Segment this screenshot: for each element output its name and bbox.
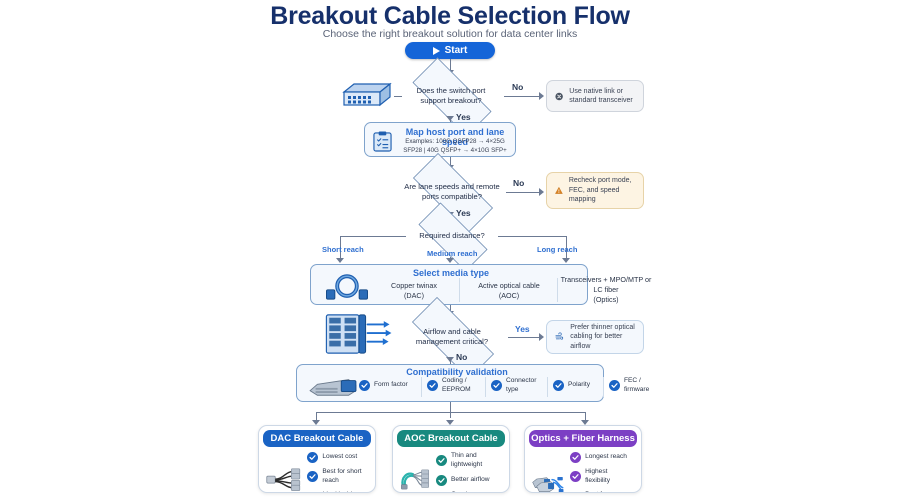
check-icon [307, 471, 318, 482]
check-icon [436, 475, 447, 486]
dac-breakout-cable-icon [266, 463, 301, 493]
edge-label-no-4: No [456, 352, 467, 362]
bullet-item: Ideal inside one rack [307, 491, 368, 493]
bullet-label: Highest flexibility [585, 468, 634, 486]
connector-arrow [539, 92, 544, 100]
validation-item-label: Polarity [568, 381, 590, 390]
aoc-breakout-cable-icon [400, 463, 430, 493]
page-subtitle: Choose the right breakout solution for d… [0, 28, 900, 40]
optics-fiber-harness-icon [532, 468, 564, 493]
check-icon [307, 452, 318, 463]
bullet-item: Highest flexibility [570, 468, 634, 486]
connector [316, 412, 585, 413]
decision-airflow-critical[interactable]: Airflow and cable management critical? [396, 313, 508, 361]
bullet-item: Best for short reach [307, 468, 368, 486]
note-prefer-thinner-text: Prefer thinner optical cabling for bette… [570, 323, 635, 351]
branch-label-medium-reach: Medium reach [427, 249, 477, 258]
bullet-item: Lowest cost [307, 452, 368, 463]
divider [557, 278, 558, 302]
result-card-aoc-bullets: Thin and lightweight Better airflow Good… [436, 452, 502, 493]
note-use-native-link: Use native link or standard transceiver [546, 80, 644, 112]
result-card-dac-body: Lowest cost Best for short reach Ideal i… [259, 447, 375, 493]
check-icon [553, 380, 564, 391]
note-prefer-thinner-optical: Prefer thinner optical cabling for bette… [546, 320, 644, 354]
clipboard-checklist-icon [373, 131, 392, 152]
validation-item-label: Coding / EEPROM [442, 377, 483, 395]
divider [603, 377, 604, 397]
connector-arrow [539, 188, 544, 196]
result-card-aoc-body: Thin and lightweight Better airflow Good… [393, 447, 509, 493]
band-media-title: Select media type [371, 268, 531, 278]
sfp-transceiver-icon [307, 376, 359, 398]
step-map-host-port[interactable]: Map host port and lane speed Examples: 1… [364, 122, 516, 157]
connector [498, 236, 566, 237]
band-select-media-type[interactable]: Select media type Copper twinax (DAC) Ac… [310, 264, 588, 305]
bullet-item: Better airflow [436, 475, 502, 486]
result-card-optics[interactable]: Optics + Fiber Harness Longest reach Hig… [524, 425, 642, 493]
decision-lane-speed-label: Are lane speeds and remote ports compati… [398, 182, 506, 203]
bullet-item: Thin and lightweight [436, 452, 502, 470]
play-icon [433, 47, 440, 55]
check-icon [609, 380, 620, 391]
media-option-dac-name: Copper twinax [391, 281, 437, 290]
decision-required-distance-label: Required distance? [413, 231, 490, 241]
validation-item: Coding / EEPROM [427, 377, 483, 395]
connector-arrow [446, 357, 454, 362]
bullet-label: Longest reach [585, 453, 627, 462]
media-option-optics: Transceivers + MPO/MTP or LC fiber (Opti… [560, 275, 652, 305]
result-card-dac-title: DAC Breakout Cable [263, 430, 371, 447]
connector-arrow [539, 333, 544, 341]
band-compatibility-validation[interactable]: Compatibility validation Form factor Cod… [296, 364, 604, 402]
step-map-examples: Examples: 100G QSFP28 → 4×25G SFP28 | 40… [395, 138, 515, 156]
divider [421, 377, 422, 397]
bullet-label: Good across adjacent racks [451, 491, 502, 493]
check-icon [427, 380, 438, 391]
connector-arrow [336, 258, 344, 263]
bullet-label: Thin and lightweight [451, 452, 502, 470]
media-option-aoc: Active optical cable (AOC) [463, 281, 555, 301]
note-recheck-port-mode: Recheck port mode, FEC, and speed mappin… [546, 172, 644, 209]
edge-label-no-2: No [513, 178, 524, 188]
check-icon [570, 471, 581, 482]
warning-triangle-icon [555, 182, 563, 199]
result-card-aoc-title: AOC Breakout Cable [397, 430, 505, 447]
check-icon [436, 455, 447, 466]
x-circle-icon [555, 89, 563, 104]
airflow-wind-icon [555, 328, 564, 346]
media-option-optics-sub: (Optics) [593, 295, 618, 304]
start-button-label: Start [445, 45, 468, 56]
branch-label-long-reach: Long reach [537, 245, 577, 254]
result-card-aoc[interactable]: AOC Breakout Cable Thin and lightweight … [392, 425, 510, 493]
bullet-label: Ideal inside one rack [322, 491, 368, 493]
connector [504, 96, 540, 97]
validation-item-label: FEC / firmware [624, 377, 661, 395]
start-button[interactable]: Start [405, 42, 495, 59]
media-option-aoc-sub: (AOC) [499, 291, 519, 300]
edge-label-yes-1: Yes [456, 112, 471, 122]
divider [459, 278, 460, 302]
validation-item-label: Form factor [374, 381, 408, 390]
bullet-label: Best for short reach [322, 468, 368, 486]
page-title: Breakout Cable Selection Flow [0, 2, 900, 31]
media-option-aoc-name: Active optical cable [478, 281, 540, 290]
connector [340, 236, 406, 237]
result-card-optics-title: Optics + Fiber Harness [529, 430, 637, 447]
validation-title: Compatibility validation [357, 367, 557, 377]
server-rack-airflow-icon [322, 312, 392, 356]
bullet-item: Good across adjacent racks [436, 491, 502, 493]
bullet-label: Lowest cost [322, 453, 357, 462]
divider [485, 377, 486, 397]
validation-item: Form factor [359, 380, 417, 391]
bullet-label: Better airflow [451, 476, 489, 485]
edge-label-yes-4: Yes [515, 324, 530, 334]
check-icon [491, 380, 502, 391]
note-use-native-link-text: Use native link or standard transceiver [569, 87, 635, 106]
validation-item-label: Connector type [506, 377, 547, 395]
flowchart-canvas: Breakout Cable Selection Flow Choose the… [0, 0, 900, 500]
branch-label-short-reach: Short reach [322, 245, 364, 254]
result-card-dac-bullets: Lowest cost Best for short reach Ideal i… [307, 452, 368, 493]
divider [547, 377, 548, 397]
connector-arrow [446, 258, 454, 263]
validation-item: FEC / firmware [609, 377, 661, 395]
check-icon [570, 452, 581, 463]
check-icon [359, 380, 370, 391]
result-card-optics-body: Longest reach Highest flexibility Best f… [525, 447, 641, 493]
result-card-optics-bullets: Longest reach Highest flexibility Best f… [570, 452, 634, 493]
note-recheck-text: Recheck port mode, FEC, and speed mappin… [569, 176, 635, 204]
edge-label-no-1: No [512, 82, 523, 92]
decision-switch-breakout[interactable]: Does the switch port support breakout? [398, 72, 504, 120]
media-option-dac: Copper twinax (DAC) [371, 281, 457, 301]
connector-arrow [446, 116, 454, 121]
validation-item: Connector type [491, 377, 547, 395]
decision-airflow-label: Airflow and cable management critical? [396, 327, 508, 348]
connector-arrow [562, 258, 570, 263]
connector [450, 402, 451, 418]
bullet-item: Best for structured cabling [570, 491, 634, 493]
validation-item: Polarity [553, 380, 603, 391]
connector [506, 192, 540, 193]
media-option-dac-sub: (DAC) [404, 291, 424, 300]
bullet-label: Best for structured cabling [585, 491, 634, 493]
network-switch-icon [338, 78, 394, 112]
result-card-dac[interactable]: DAC Breakout Cable Lowest cost Best for … [258, 425, 376, 493]
coiled-dac-cable-icon [323, 273, 371, 301]
connector [508, 337, 540, 338]
decision-switch-breakout-label: Does the switch port support breakout? [398, 86, 504, 107]
bullet-item: Longest reach [570, 452, 634, 463]
decision-lane-speed-compatible[interactable]: Are lane speeds and remote ports compati… [398, 168, 506, 216]
media-option-optics-name: Transceivers + MPO/MTP or LC fiber [561, 275, 652, 294]
